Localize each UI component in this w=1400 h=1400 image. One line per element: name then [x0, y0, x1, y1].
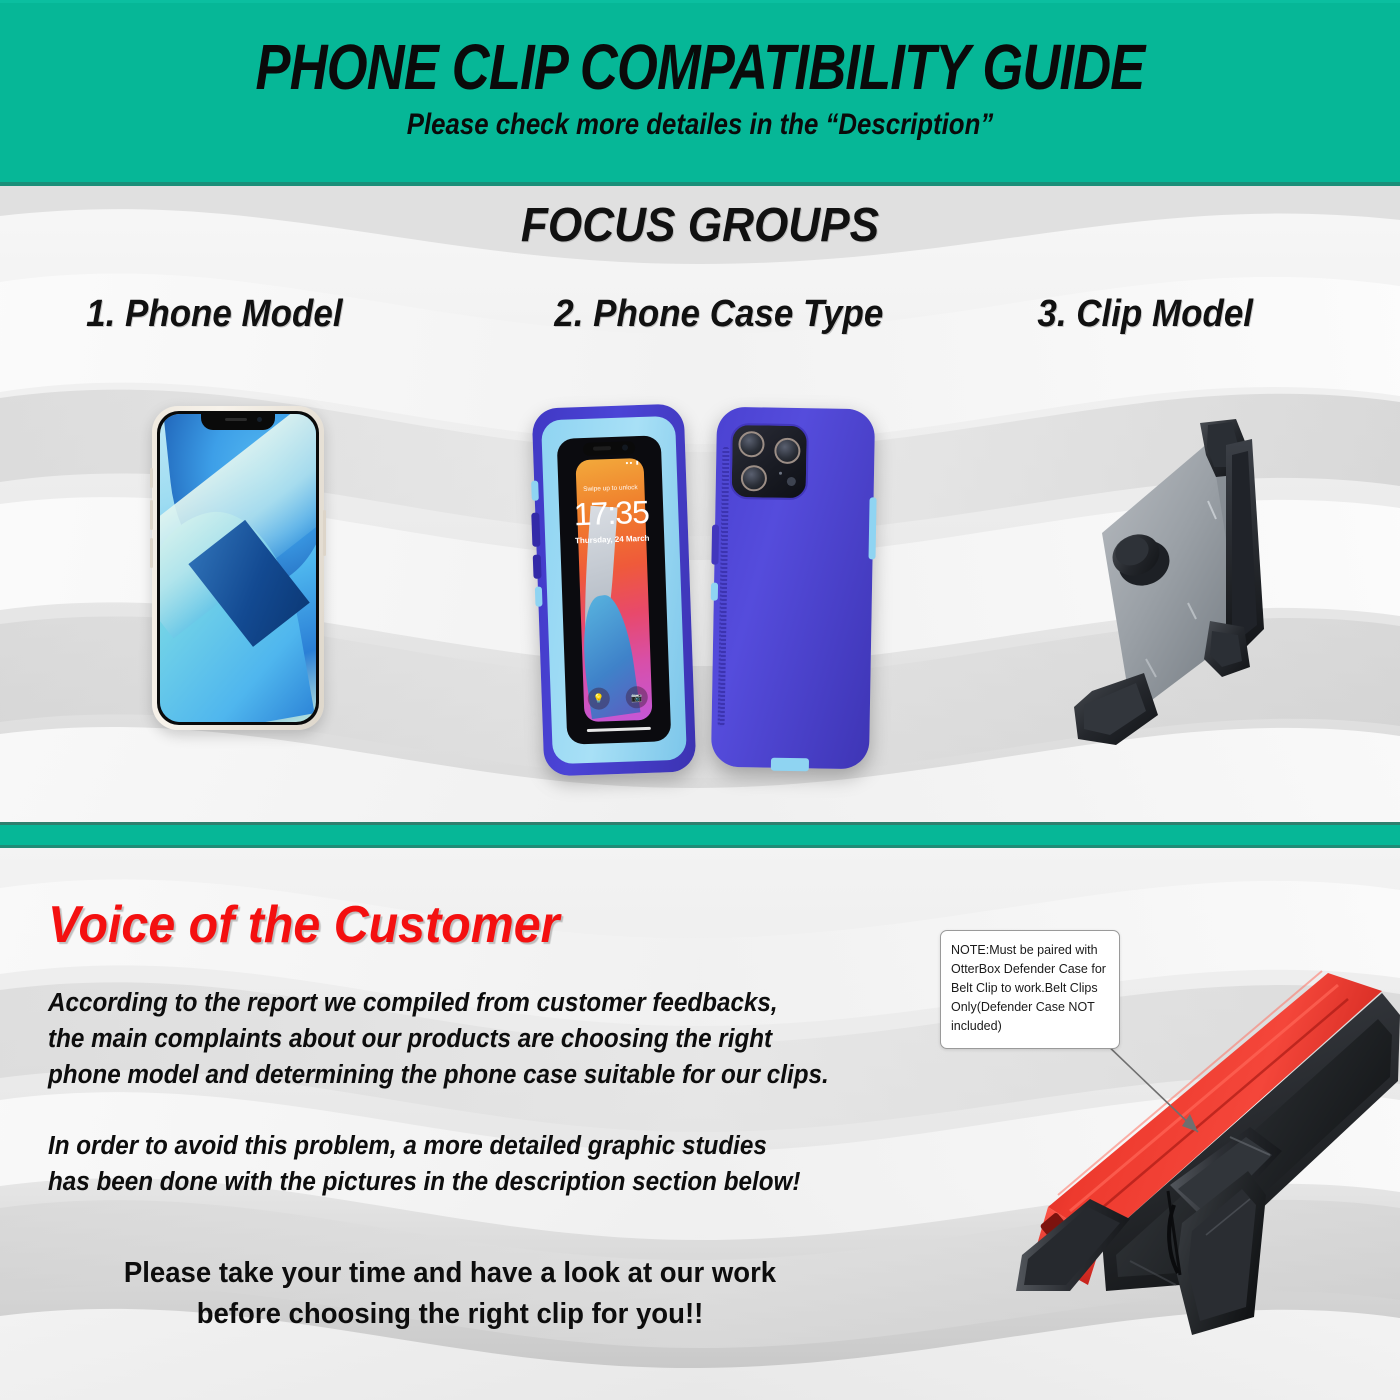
divider-top-edge	[0, 822, 1400, 825]
voice-p2-line-2: has been done with the pictures in the d…	[48, 1164, 800, 1200]
case-back-accent-right	[869, 497, 877, 559]
camera-flash-icon	[787, 477, 796, 486]
header-bottom-edge	[0, 182, 1400, 186]
case-back-view	[711, 407, 875, 770]
case-texture-strip	[718, 447, 730, 727]
voice-paragraph-2: In order to avoid this problem, a more d…	[48, 1128, 800, 1200]
voice-closing-line-1: Please take your time and have a look at…	[23, 1253, 878, 1294]
status-bar: ●● ▮	[625, 460, 639, 466]
earpiece-icon	[593, 446, 611, 451]
phone-mute-switch	[150, 468, 153, 488]
front-camera-icon	[257, 417, 262, 422]
voice-of-customer-title: Voice of the Customer	[48, 895, 559, 955]
case-accent-top-left	[531, 481, 539, 501]
phone-volume-up-button	[150, 500, 153, 530]
voice-p1-line-3: phone model and determining the phone ca…	[48, 1057, 829, 1093]
case-back-accent-left	[711, 583, 718, 601]
camera-lens-icon	[741, 465, 767, 491]
note-callout-pointer	[1102, 1040, 1212, 1140]
phone-bezel	[157, 411, 319, 725]
note-callout-text: NOTE:Must be paired with OtterBox Defend…	[951, 943, 1106, 1033]
header-banner: PHONE CLIP COMPATIBILITY GUIDE Please ch…	[0, 0, 1400, 186]
defender-case-illustration: ●● ▮ Swipe up to unlock 17:35 Thursday, …	[520, 398, 880, 798]
dynamic-island	[583, 441, 635, 456]
voice-p2-line-1: In order to avoid this problem, a more d…	[48, 1128, 800, 1164]
voice-closing-text: Please take your time and have a look at…	[23, 1253, 878, 1335]
earpiece-speaker-icon	[225, 418, 247, 421]
header-top-edge	[0, 0, 1400, 3]
voice-p1-line-2: the main complaints about our products a…	[48, 1021, 829, 1057]
case-side-button-cover	[711, 525, 719, 565]
voice-p1-line-1: According to the report we compiled from…	[48, 985, 829, 1021]
section-divider	[0, 822, 1400, 848]
focus-column-label-case-type: 2. Phone Case Type	[554, 293, 883, 336]
infographic-page: PHONE CLIP COMPATIBILITY GUIDE Please ch…	[0, 0, 1400, 1400]
home-indicator	[587, 727, 651, 732]
case-volume-up-cover	[531, 513, 540, 547]
iphone-illustration	[152, 406, 324, 730]
phone-power-button	[323, 510, 326, 556]
case-port-cover	[771, 758, 809, 772]
divider-bottom-edge	[0, 845, 1400, 848]
case-front-bezel: ●● ▮ Swipe up to unlock 17:35 Thursday, …	[557, 435, 672, 744]
page-subtitle: Please check more detailes in the “Descr…	[98, 108, 1302, 142]
focus-column-label-clip-model: 3. Clip Model	[1037, 293, 1253, 336]
camera-module	[730, 423, 809, 500]
camera-lens-icon	[774, 438, 800, 464]
front-camera-icon	[622, 444, 628, 450]
phone-volume-down-button	[150, 538, 153, 568]
note-callout: NOTE:Must be paired with OtterBox Defend…	[940, 930, 1120, 1049]
lockscreen-clock: 17:35	[559, 495, 664, 531]
lidar-sensor-icon	[779, 472, 782, 475]
case-inner-liner: ●● ▮ Swipe up to unlock 17:35 Thursday, …	[541, 416, 687, 764]
case-volume-down-cover	[533, 555, 542, 579]
voice-closing-line-2: before choosing the right clip for you!!	[23, 1294, 878, 1335]
phone-wallpaper	[160, 414, 316, 722]
lockscreen-date: Thursday, 24 March	[560, 533, 664, 546]
case-accent-bottom-left	[535, 587, 543, 607]
focus-groups-title: FOCUS GROUPS	[56, 198, 1344, 253]
phone-notch	[201, 411, 275, 430]
belt-clip-illustration	[1040, 415, 1330, 770]
voice-paragraph-1: According to the report we compiled from…	[48, 985, 829, 1094]
focus-column-label-phone-model: 1. Phone Model	[86, 293, 342, 336]
case-front-view: ●● ▮ Swipe up to unlock 17:35 Thursday, …	[532, 403, 697, 776]
camera-lens-icon	[738, 431, 764, 457]
page-title: PHONE CLIP COMPATIBILITY GUIDE	[126, 30, 1274, 104]
